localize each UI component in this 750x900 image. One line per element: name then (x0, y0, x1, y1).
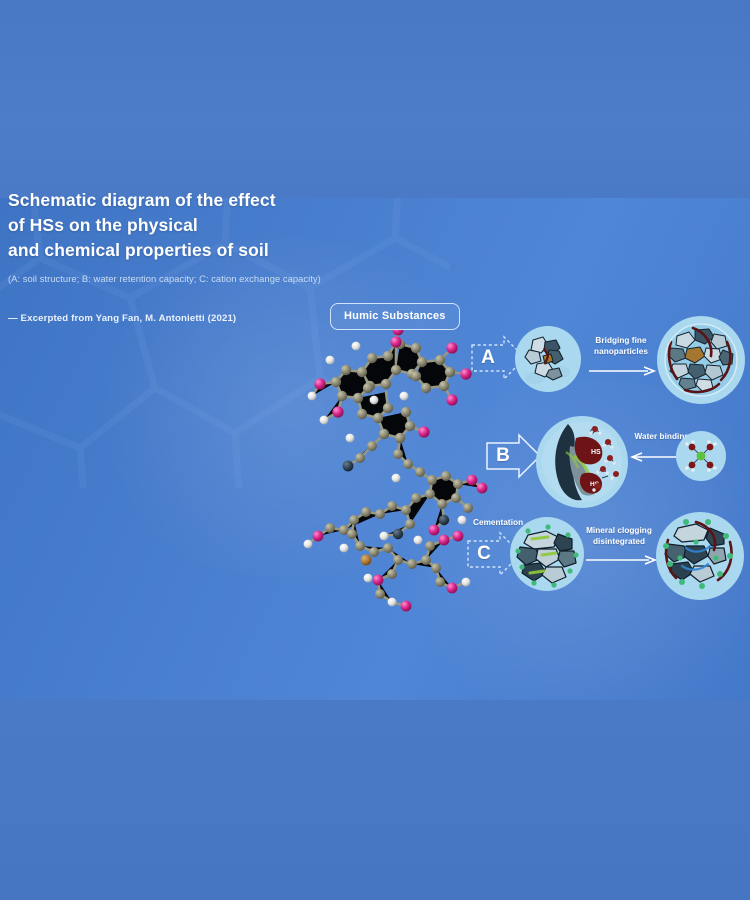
panel-b-letter: B (485, 432, 521, 480)
panel-c-flow-label: Mineral clogging disintegrated (580, 526, 658, 547)
panel-c-left-circle (510, 517, 584, 591)
title-line-3: and chemical properties of soil (8, 238, 348, 263)
panel-a-letter: A (470, 334, 506, 382)
panel-b-right-circle (676, 431, 726, 481)
panel-c-left-caption: Cementation (473, 518, 523, 527)
page-title: Schematic diagram of the effect of HSs o… (8, 188, 348, 263)
panel-b-left-circle: HS HS (536, 416, 628, 508)
text-block: Schematic diagram of the effect of HSs o… (8, 188, 348, 324)
humic-substances-label: Humic Substances (330, 303, 460, 330)
panel-a-flow-label: Bridging fine nanoparticles (586, 336, 656, 357)
title-line-1: Schematic diagram of the effect (8, 188, 348, 213)
panel-c-letter: C (466, 530, 502, 578)
poster-canvas: Schematic diagram of the effect of HSs o… (0, 0, 750, 900)
panel-c-right-circle (656, 512, 744, 600)
attribution: — Excerpted from Yang Fan, M. Antonietti… (8, 313, 348, 324)
panel-a-right-circle (657, 316, 745, 404)
panel-a-left-circle (515, 326, 581, 392)
title-line-2: of HSs on the physical (8, 213, 348, 238)
background-bottom (0, 700, 750, 900)
panel-c-flow-arrow (585, 553, 659, 567)
panel-a-flow-arrow (588, 364, 658, 378)
background-top (0, 0, 750, 198)
hs-blob-label-1: HS (591, 449, 601, 456)
panel-c-marker: C (466, 530, 510, 576)
panel-a-marker: A (470, 334, 514, 380)
subtitle: (A: soil structure; B: water retention c… (8, 272, 348, 285)
panel-b-marker: B (485, 432, 529, 478)
